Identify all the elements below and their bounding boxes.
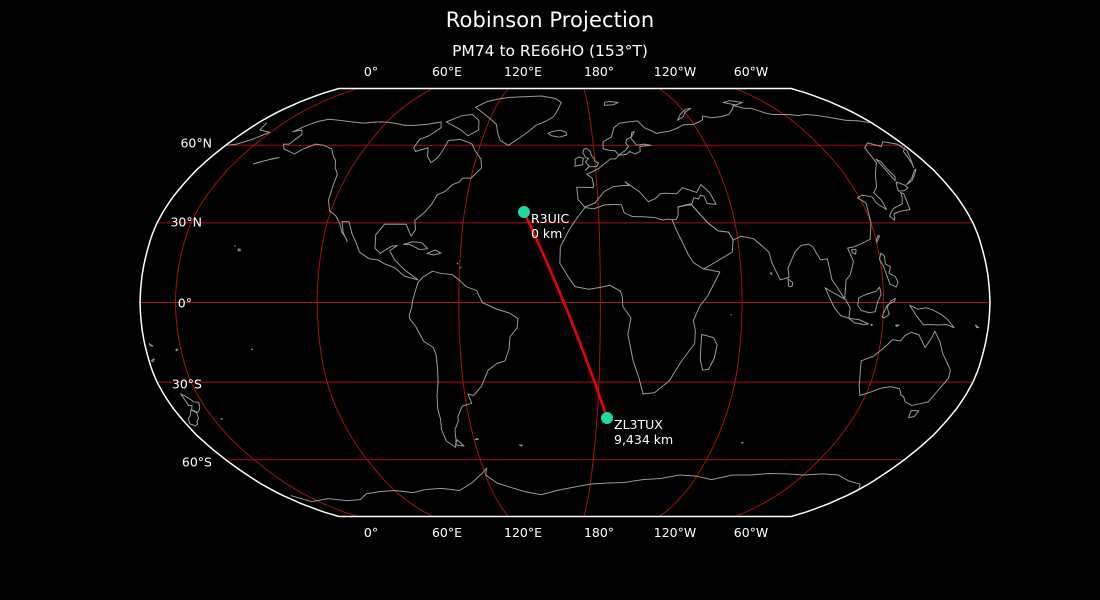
lon-tick-bottom-2: 120°E <box>504 525 542 540</box>
robinson-projection-figure: Robinson Projection PM74 to RE66HO (153°… <box>0 0 1100 600</box>
station-marker-r3uic[interactable] <box>518 206 530 218</box>
lon-tick-bottom-1: 60°E <box>432 525 462 540</box>
great-circle-path <box>524 212 607 418</box>
lon-tick-top-5: 60°W <box>734 64 769 79</box>
lon-tick-top-4: 120°W <box>654 64 696 79</box>
lat-tick-0: 0° <box>100 296 192 311</box>
lon-tick-bottom-4: 120°W <box>654 525 696 540</box>
map-coastlines-group <box>149 96 979 502</box>
station-callsign: ZL3TUX <box>614 417 663 432</box>
station-label-r3uic: R3UIC 0 km <box>531 211 569 242</box>
lat-tick-60n: 60°N <box>120 136 212 151</box>
lon-tick-top-0: 0° <box>364 64 378 79</box>
lon-tick-top-3: 180° <box>584 64 614 79</box>
lat-tick-60s: 60°S <box>120 455 212 470</box>
station-marker-zl3tux[interactable] <box>601 412 613 424</box>
lon-tick-bottom-0: 0° <box>364 525 378 540</box>
lon-tick-top-1: 60°E <box>432 64 462 79</box>
lon-tick-top-2: 120°E <box>504 64 542 79</box>
lon-tick-bottom-5: 60°W <box>734 525 769 540</box>
station-distance: 0 km <box>531 226 569 241</box>
lon-tick-bottom-3: 180° <box>584 525 614 540</box>
station-distance: 9,434 km <box>614 432 673 447</box>
station-callsign: R3UIC <box>531 211 569 226</box>
lat-tick-30s: 30°S <box>110 377 202 392</box>
station-label-zl3tux: ZL3TUX 9,434 km <box>614 417 673 448</box>
lat-tick-30n: 30°N <box>110 215 202 230</box>
